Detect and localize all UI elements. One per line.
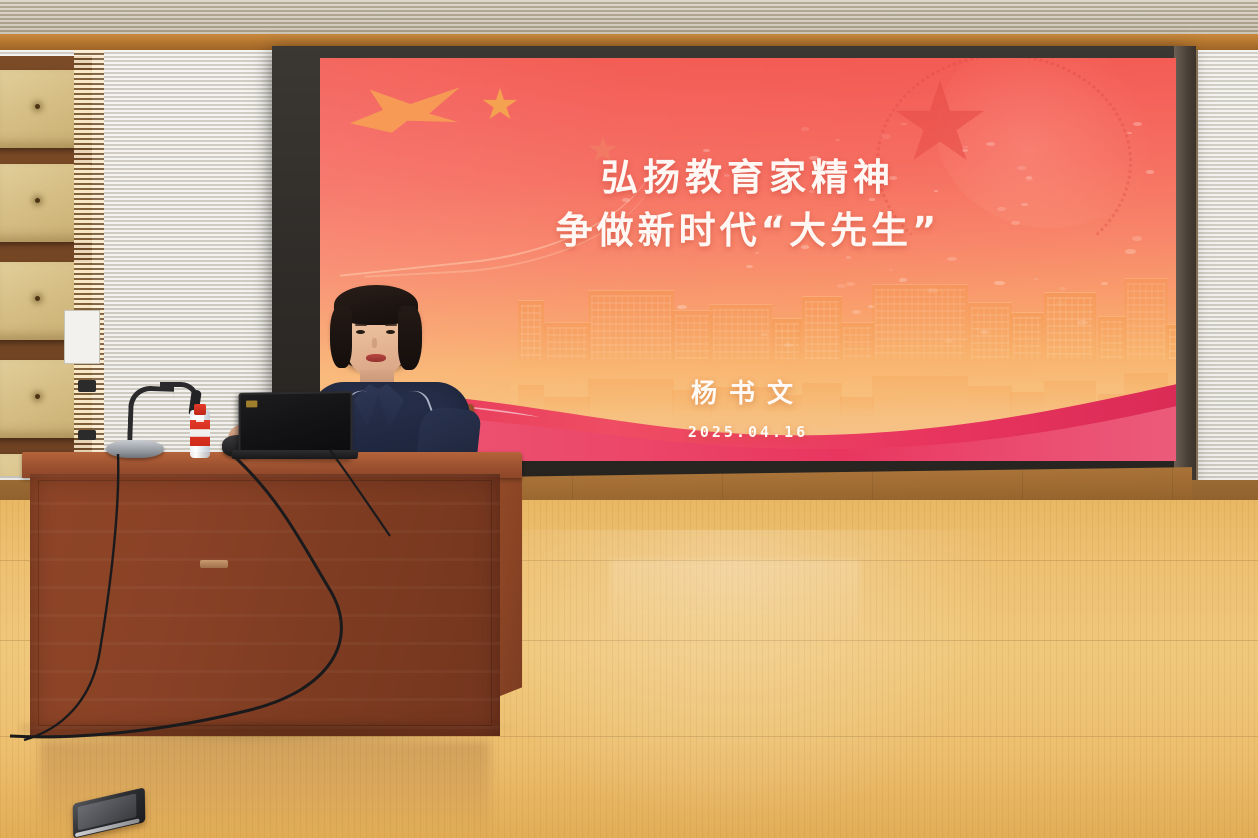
desk-shadow: [20, 724, 520, 746]
lecture-hall-photo: 弘扬教育家精神 争做新时代“大先生” 杨书文 2025.04.16: [0, 0, 1258, 838]
building-silhouette: [840, 322, 874, 363]
wall-socket: [78, 380, 96, 392]
eyebrow-right: [385, 324, 397, 326]
wood-slat-column: [74, 50, 104, 480]
slide-title-line2: 争做新时代“大先生”: [320, 203, 1176, 259]
building-silhouette: [802, 296, 842, 363]
slide-title-block: 弘扬教育家精神 争做新时代“大先生”: [320, 153, 1176, 258]
laptop-screen: [239, 391, 353, 459]
screen-reflection: [610, 560, 860, 640]
wall-socket: [78, 430, 96, 440]
light-particle: [703, 149, 710, 152]
building-silhouette: [544, 322, 590, 363]
nose: [372, 338, 377, 348]
building-silhouette: [1124, 278, 1168, 363]
light-particle: [801, 127, 810, 131]
wall-box: [64, 310, 100, 364]
building-silhouette: [772, 318, 802, 363]
building-silhouette: [588, 290, 674, 363]
light-particle: [835, 139, 840, 141]
building-silhouette: [968, 302, 1012, 363]
water-bottle: [189, 396, 211, 458]
building-silhouette: [672, 310, 712, 363]
building-silhouette: [1044, 292, 1096, 363]
bottle-cap: [194, 404, 206, 415]
building-silhouette: [1010, 312, 1044, 363]
bottle-label: [190, 420, 210, 446]
building-silhouette: [872, 284, 968, 363]
desk-front-panel: [30, 474, 500, 736]
laptop-base: [232, 450, 359, 459]
led-screen-frame-edge: [1174, 46, 1196, 508]
eye-right: [386, 330, 395, 334]
building-silhouette: [710, 304, 772, 363]
laptop-logo: [246, 400, 257, 407]
hair-side-right: [398, 306, 422, 370]
eyebrow-left: [355, 324, 367, 326]
desk-handle: [200, 560, 228, 568]
slide-title-line1: 弘扬教育家精神: [320, 153, 1176, 203]
eye-left: [356, 330, 365, 334]
light-particle: [746, 265, 753, 268]
mouth: [366, 354, 386, 362]
building-silhouette: [518, 300, 544, 363]
hair-side-left: [330, 306, 352, 368]
building-silhouette: [1098, 316, 1126, 363]
wall-panel-right: [1195, 50, 1258, 520]
microphone-base: [106, 440, 164, 458]
